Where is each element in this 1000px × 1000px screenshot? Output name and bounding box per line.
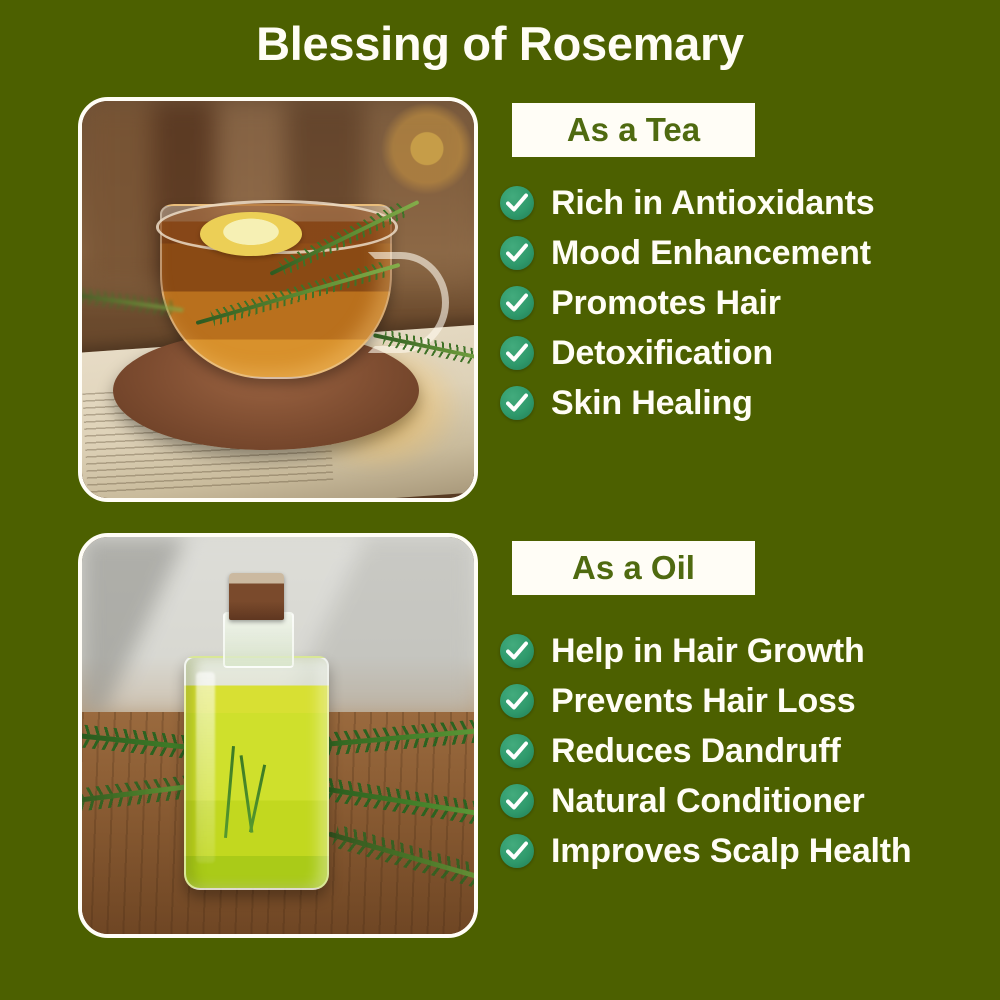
benefits-list-tea: Rich in Antioxidants Mood Enhancement Pr… xyxy=(500,178,980,428)
tea-photo-illustration xyxy=(82,101,474,498)
benefit-label: Prevents Hair Loss xyxy=(551,682,855,721)
list-item: Detoxification xyxy=(500,328,980,378)
list-item: Promotes Hair xyxy=(500,278,980,328)
benefit-label: Help in Hair Growth xyxy=(551,632,865,671)
check-icon xyxy=(500,834,534,868)
bottle-neck xyxy=(223,612,294,668)
list-item: Help in Hair Growth xyxy=(500,626,980,676)
bottle-highlight xyxy=(196,672,216,863)
cork-stopper xyxy=(229,573,284,621)
section-banner-oil: As a Oil xyxy=(512,541,755,595)
benefit-label: Natural Conditioner xyxy=(551,782,865,821)
oil-photo-illustration xyxy=(82,537,474,934)
list-item: Natural Conditioner xyxy=(500,776,980,826)
check-icon xyxy=(500,634,534,668)
benefit-label: Improves Scalp Health xyxy=(551,832,912,871)
page-title: Blessing of Rosemary xyxy=(0,14,1000,74)
benefits-list-oil: Help in Hair Growth Prevents Hair Loss R… xyxy=(500,626,980,876)
oil-photo xyxy=(78,533,478,938)
benefit-label: Rich in Antioxidants xyxy=(551,184,874,223)
list-item: Reduces Dandruff xyxy=(500,726,980,776)
check-icon xyxy=(500,684,534,718)
list-item: Prevents Hair Loss xyxy=(500,676,980,726)
lemon-slice xyxy=(200,212,302,256)
section-banner-tea: As a Tea xyxy=(512,103,755,157)
check-icon xyxy=(500,386,534,420)
list-item: Improves Scalp Health xyxy=(500,826,980,876)
sprig-in-bottle xyxy=(224,746,235,838)
benefit-label: Skin Healing xyxy=(551,384,753,423)
tea-photo xyxy=(78,97,478,502)
list-item: Rich in Antioxidants xyxy=(500,178,980,228)
check-icon xyxy=(500,336,534,370)
check-icon xyxy=(500,286,534,320)
list-item: Skin Healing xyxy=(500,378,980,428)
check-icon xyxy=(500,236,534,270)
check-icon xyxy=(500,734,534,768)
benefit-label: Reduces Dandruff xyxy=(551,732,841,771)
sprig-in-bottle xyxy=(249,764,266,832)
list-item: Mood Enhancement xyxy=(500,228,980,278)
benefit-label: Promotes Hair xyxy=(551,284,781,323)
check-icon xyxy=(500,784,534,818)
check-icon xyxy=(500,186,534,220)
benefit-label: Mood Enhancement xyxy=(551,234,871,273)
benefit-label: Detoxification xyxy=(551,334,773,373)
